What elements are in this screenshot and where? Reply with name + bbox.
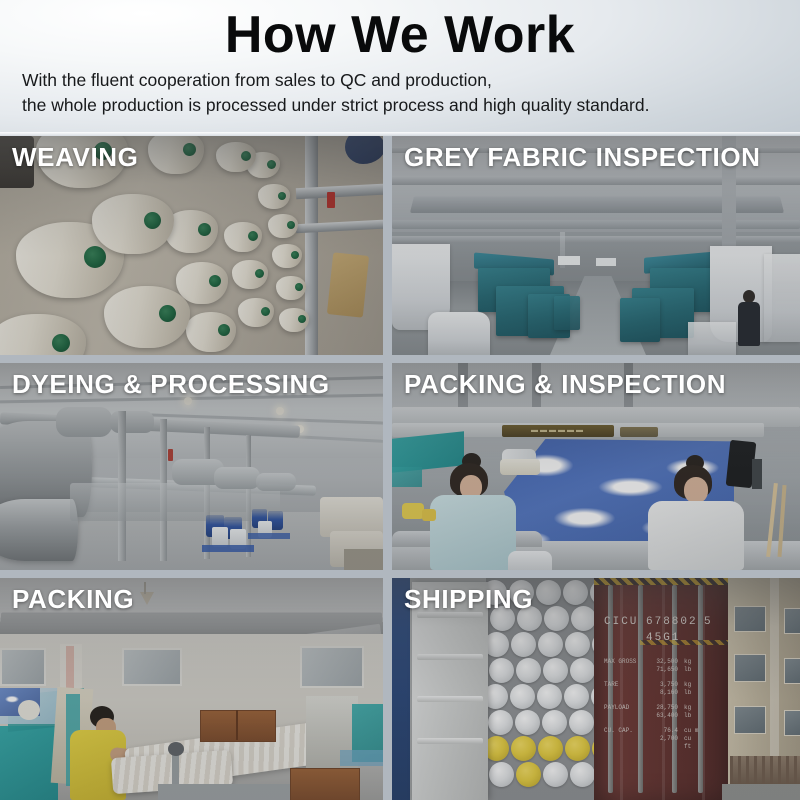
plate-value-lb: 8,160 [652, 689, 678, 697]
container-weight-plate: MAX GROSS 32,500 kg 71,650 lb TARE 3,750… [604, 658, 722, 751]
header-banner: How We Work With the fluent cooperation … [0, 0, 800, 136]
container-check-digit: 5 [704, 616, 713, 628]
plate-label: CU. CAP. [604, 727, 646, 735]
panel-packing[interactable]: PACKING [0, 578, 383, 800]
plate-row: 63,400 lb [604, 712, 722, 720]
grid-gutter-vertical-2 [383, 363, 392, 570]
grid-gutter-cross-2 [383, 570, 392, 578]
grid-gutter-horizontal-1b [392, 355, 800, 363]
plate-unit-lb: lb [684, 689, 700, 697]
plate-unit-lb: cu ft [684, 735, 700, 751]
container-serial: 678802 [646, 616, 698, 628]
plate-unit-kg: kg [684, 681, 700, 689]
grid-gutter-horizontal-2a [0, 570, 383, 578]
plate-value-kg: 3,750 [652, 681, 678, 689]
plate-row: TARE 3,750 kg [604, 681, 722, 689]
plate-row: CU. CAP. 76.4 cu m [604, 727, 722, 735]
plate-value-lb: 71,650 [652, 666, 678, 674]
plate-row: MAX GROSS 32,500 kg [604, 658, 722, 666]
subtitle-line-1: With the fluent cooperation from sales t… [22, 70, 492, 90]
panel-label-packing-inspection: PACKING & INSPECTION [404, 369, 726, 400]
grid-gutter-vertical-1 [383, 136, 392, 355]
grid-gutter-cross-1 [383, 355, 392, 363]
plate-unit-lb: lb [684, 712, 700, 720]
panel-label-shipping: SHIPPING [404, 584, 533, 615]
panel-grey-fabric-inspection[interactable]: GREY FABRIC INSPECTION [392, 136, 800, 355]
plate-unit-kg: cu m [684, 727, 700, 735]
panel-label-grey-fabric-inspection: GREY FABRIC INSPECTION [404, 142, 761, 173]
how-we-work-infographic: How We Work With the fluent cooperation … [0, 0, 800, 800]
subtitle-line-2: the whole production is processed under … [22, 93, 762, 118]
page-subtitle: With the fluent cooperation from sales t… [22, 68, 762, 118]
container-size-type: 45G1 [646, 632, 680, 644]
panel-shipping[interactable]: CICU 678802 5 45G1 MAX GROSS 32,500 kg 7… [392, 578, 800, 800]
plate-row: PAYLOAD 28,750 kg [604, 704, 722, 712]
container-owner-code: CICU [604, 616, 638, 628]
plate-label: MAX GROSS [604, 658, 646, 666]
grid-gutter-horizontal-1a [0, 355, 383, 363]
page-title: How We Work [0, 8, 800, 63]
plate-label: TARE [604, 681, 646, 689]
grid-gutter-horizontal-2b [392, 570, 800, 578]
grid-gutter-vertical-3 [383, 578, 392, 800]
panel-dyeing-processing[interactable]: DYEING & PROCESSING [0, 363, 383, 570]
plate-value-lb: 63,400 [652, 712, 678, 720]
plate-value-kg: 28,750 [652, 704, 678, 712]
process-panel-grid: WEAVING [0, 136, 800, 800]
panel-label-weaving: WEAVING [12, 142, 139, 173]
plate-row: 8,160 lb [604, 689, 722, 697]
plate-label: PAYLOAD [604, 704, 646, 712]
plate-value-kg: 32,500 [652, 658, 678, 666]
panel-label-dyeing-processing: DYEING & PROCESSING [12, 369, 330, 400]
panel-weaving[interactable]: WEAVING [0, 136, 383, 355]
plate-value-kg: 76.4 [652, 727, 678, 735]
panel-packing-inspection[interactable]: ▬▬▬▬▬▬ [392, 363, 800, 570]
plate-row: 2,700 cu ft [604, 735, 722, 751]
plate-unit-kg: kg [684, 658, 700, 666]
plate-row: 71,650 lb [604, 666, 722, 674]
plate-unit-kg: kg [684, 704, 700, 712]
plate-unit-lb: lb [684, 666, 700, 674]
panel-label-packing: PACKING [12, 584, 134, 615]
plate-value-lb: 2,700 [652, 735, 678, 751]
